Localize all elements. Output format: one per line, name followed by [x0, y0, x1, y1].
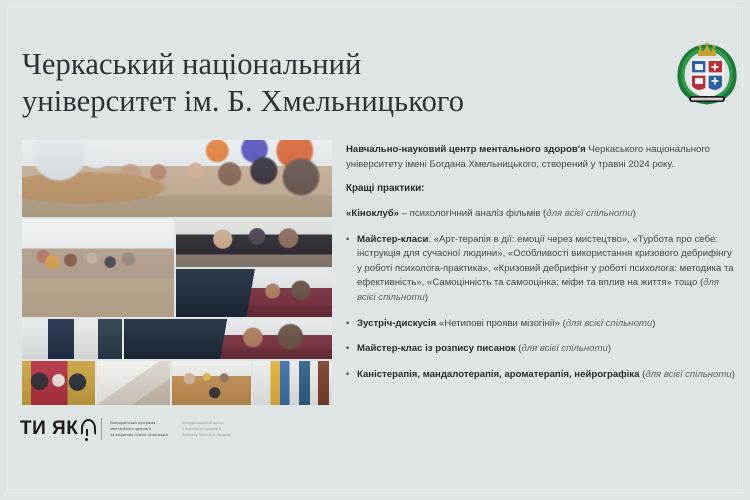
photo-easels-paintings: [253, 361, 332, 405]
practice-audience: для всієї спільноти: [566, 318, 652, 329]
partner-logos: ТИ ЯК Всеукраїнська програма ментального…: [20, 418, 231, 440]
presentation-slide: Черкаський національний університет ім. …: [0, 0, 750, 500]
practice-text: «Кіноклуб» – психологічний аналіз фільмі…: [346, 208, 636, 219]
collage-row-top: [22, 140, 332, 217]
photo-classroom-mandalas: [22, 140, 332, 217]
section-heading: Кращі практики:: [346, 182, 738, 197]
practice-text: Каністерапія, мандалотерапія, ароматерап…: [357, 368, 738, 383]
practice-text: Майстер-клас із розпису писанок (для всі…: [357, 342, 738, 357]
practice-audience: для всієї спільноти: [645, 369, 731, 380]
practice-item: «Кіноклуб» – психологічний аналіз фільмі…: [346, 207, 738, 222]
practice-title: Зустріч-дискусія: [357, 318, 436, 329]
bullet-icon: •: [346, 342, 357, 357]
collage-row-seminar: [22, 319, 332, 359]
photo-lecture-audience: [176, 269, 332, 317]
photo-women-embroidery: [22, 361, 95, 405]
photo-seminar-screen: [22, 319, 122, 359]
bullet-icon: •: [346, 233, 357, 306]
practice-item: •Майстер-клас із розпису писанок (для вс…: [346, 342, 738, 357]
practice-title: Майстер-клас із розпису писанок: [357, 343, 516, 354]
logo-divider: [101, 418, 102, 440]
ty-yak-caption: Всеукраїнська програма ментального здоро…: [110, 420, 168, 438]
question-mark-icon: [80, 418, 93, 440]
practice-item: •Зустріч-дискусія «Нетипові прояви мізог…: [346, 317, 738, 332]
ty-yak-wordmark: ТИ ЯК: [20, 418, 93, 440]
intro-paragraph: Навчально-науковий центр ментального здо…: [346, 143, 738, 172]
practice-item: •Майстер-класи. «Арт-терапія в дії: емоц…: [346, 233, 738, 306]
practice-title: Каністерапія, мандалотерапія, ароматерап…: [357, 369, 639, 380]
photo-round-table-writing: [172, 361, 251, 405]
collage-row-bottom: [22, 361, 332, 405]
practice-text: Зустріч-дискусія «Нетипові прояви мізогі…: [357, 317, 738, 332]
photo-seminar-audience: [124, 319, 332, 359]
intro-bold: Навчально-науковий центр ментального здо…: [346, 144, 586, 155]
content-column: Навчально-науковий центр ментального здо…: [346, 143, 738, 393]
photo-workshop-table: [176, 219, 332, 267]
bullet-icon: •: [346, 368, 357, 383]
practice-title: Майстер-класи: [357, 234, 428, 245]
practice-audience: для всієї спільноти: [357, 277, 719, 303]
slide-header: Черкаський національний університет ім. …: [22, 46, 662, 120]
practices-list: «Кіноклуб» – психологічний аналіз фільмі…: [346, 207, 738, 382]
practice-item: •Каністерапія, мандалотерапія, ароматера…: [346, 368, 738, 383]
coordination-center-caption: Координаційний центр з психічного здоров…: [182, 420, 231, 438]
ty-yak-text: ТИ ЯК: [20, 418, 78, 440]
photo-documents-table: [97, 361, 170, 405]
practice-audience: для всієї спільноти: [521, 343, 607, 354]
collage-row-middle: [22, 219, 332, 317]
ty-yak-logo: ТИ ЯК Всеукраїнська програма ментального…: [20, 418, 168, 440]
page-title: Черкаський національний університет ім. …: [22, 46, 662, 120]
practice-title: «Кіноклуб»: [346, 208, 399, 219]
practice-audience: для всієї спільноти: [546, 208, 632, 219]
bullet-icon: •: [346, 317, 357, 332]
photo-large-group-auditorium: [22, 219, 174, 317]
practice-text: Майстер-класи. «Арт-терапія в дії: емоці…: [357, 233, 738, 306]
photo-collage: [22, 140, 332, 405]
university-crest-icon: [676, 40, 738, 106]
